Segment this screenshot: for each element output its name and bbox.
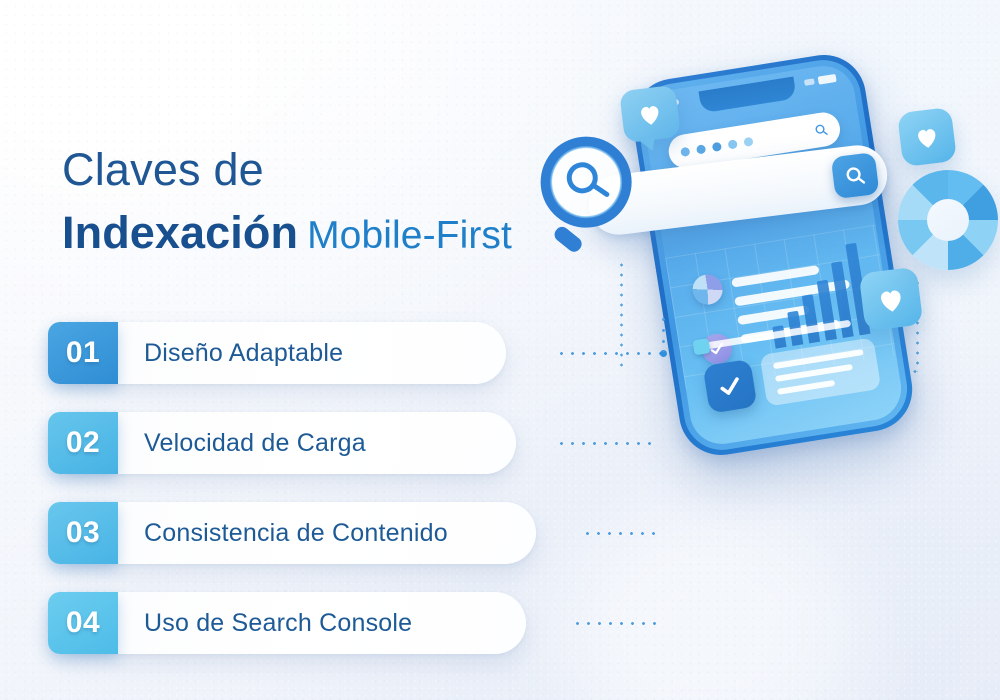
list-item-number: 01 [66, 336, 100, 370]
mobile-first-indexing-illustration [560, 40, 1000, 560]
connector-dots-riser [662, 314, 665, 352]
heart-icon [636, 101, 665, 128]
heart-square-bottom [859, 267, 924, 332]
title-accent-word: Mobile-First [307, 214, 512, 257]
list-item-number: 03 [66, 516, 100, 550]
list-item-number: 02 [66, 426, 100, 460]
battery-icon [818, 74, 837, 85]
connector-dots [556, 352, 662, 355]
list-item[interactable]: 03 Consistencia de Contenido [48, 502, 568, 564]
chat-bubble-tail [637, 137, 657, 153]
heart-square-top [897, 107, 957, 167]
wifi-icon [804, 78, 815, 85]
phone-checkbox-checked[interactable] [703, 359, 758, 414]
list-item[interactable]: 01 Diseño Adaptable [48, 322, 568, 384]
phone-slider-knob[interactable] [692, 338, 710, 355]
page-title: Claves de IndexaciónMobile-First [62, 146, 622, 257]
search-submit-button[interactable] [831, 152, 880, 199]
list-item-label: Consistencia de Contenido [144, 502, 448, 564]
heart-chat-bubble [619, 85, 681, 143]
connector-dots [582, 532, 660, 535]
search-icon [813, 122, 829, 138]
list-item-number-badge: 01 [48, 322, 118, 384]
title-line-1: Claves de [62, 146, 622, 195]
list-item[interactable]: 02 Velocidad de Carga [48, 412, 568, 474]
heart-icon [913, 124, 942, 151]
check-icon [716, 373, 743, 400]
list-item[interactable]: 04 Uso de Search Console [48, 592, 568, 654]
phone-notch [698, 77, 796, 114]
list-item-label: Diseño Adaptable [144, 322, 343, 384]
list-item-number-badge: 03 [48, 502, 118, 564]
infographic-canvas: Claves de IndexaciónMobile-First 01 Dise… [0, 0, 1000, 700]
list-item-label: Uso de Search Console [144, 592, 412, 654]
key-points-list: 01 Diseño Adaptable 02 Velocidad de Carg… [48, 322, 568, 682]
search-icon [843, 163, 868, 188]
list-item-number: 04 [66, 606, 100, 640]
title-line-2: IndexaciónMobile-First [62, 209, 622, 258]
list-item-label: Velocidad de Carga [144, 412, 366, 474]
heart-icon [874, 284, 907, 314]
donut-chart [898, 170, 998, 270]
list-item-number-badge: 02 [48, 412, 118, 474]
connector-dots [556, 442, 656, 445]
connector-dots [572, 622, 656, 625]
title-strong-word: Indexación [62, 207, 298, 258]
list-item-number-badge: 04 [48, 592, 118, 654]
